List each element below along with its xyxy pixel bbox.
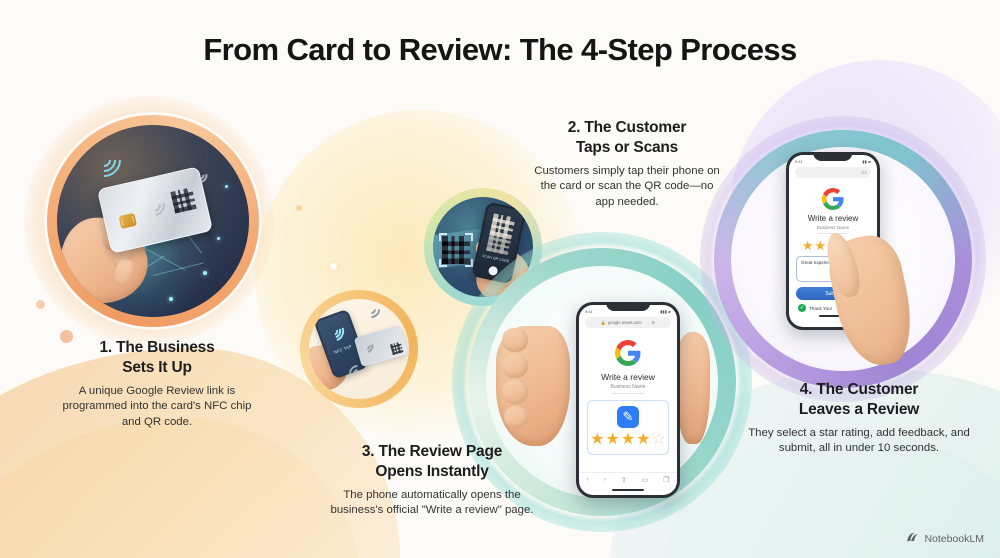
step-1-heading-line2: Sets It Up — [122, 359, 191, 376]
decorative-dot — [36, 300, 45, 309]
step-3-block: 3. The Review Page Opens Instantly The p… — [322, 442, 542, 519]
google-logo-icon — [579, 340, 677, 366]
step-3-body: The phone automatically opens the busine… — [322, 488, 542, 519]
confirmation-text: Thank You! — [809, 306, 832, 311]
step-4-body: They select a star rating, add feedback,… — [746, 426, 972, 457]
qr-code-icon — [390, 341, 404, 355]
star-icon[interactable]: ☆ — [652, 432, 666, 448]
scan-corner — [439, 259, 447, 267]
finger — [502, 380, 528, 404]
browser-nav-bar: ‹ › ⇧ ▭ ❐ — [579, 472, 677, 486]
step-2-heading-line2: Taps or Scans — [576, 139, 678, 156]
review-page-title: Write a review — [579, 372, 677, 382]
check-circle-icon: ✓ — [798, 304, 806, 312]
thumb — [676, 332, 710, 444]
network-node — [225, 185, 228, 188]
network-node — [169, 297, 173, 301]
step1-illustration — [57, 125, 249, 317]
decorative-dot — [296, 205, 302, 211]
step-4-block: 4. The Customer Leaves a Review They sel… — [746, 380, 972, 457]
notebooklm-logo-icon — [906, 531, 920, 546]
scan-corner — [439, 233, 447, 241]
review-page-title: Write a review — [789, 214, 877, 223]
url-text: google.revws.com — [608, 320, 642, 325]
network-node — [217, 237, 220, 240]
finger — [502, 328, 528, 352]
step-4-heading: 4. The Customer Leaves a Review — [746, 380, 972, 420]
star-icon[interactable]: ★ — [605, 432, 619, 448]
forward-icon[interactable]: › — [604, 476, 606, 483]
star-icon[interactable]: ★ — [815, 239, 827, 252]
step-4-heading-line2: Leaves a Review — [799, 401, 919, 418]
business-name: Business Name — [579, 384, 677, 390]
nfc-tap-illustration: NFC TAP — [309, 299, 409, 399]
phone-notch — [606, 302, 650, 311]
status-indicators: ▮▮▮ ▰ — [660, 309, 671, 314]
write-review-card[interactable]: ✎ ★ ★ ★ ★ ☆ — [587, 400, 669, 455]
step-1-heading: 1. The Business Sets It Up — [52, 338, 262, 378]
star-icon[interactable]: ★ — [621, 432, 635, 448]
decorative-dot — [330, 263, 337, 270]
step-1-block: 1. The Business Sets It Up A unique Goog… — [52, 338, 262, 431]
business-name: Business Name — [789, 225, 877, 230]
browser-url-bar[interactable]: 🔒 google.revws.com ⟳ — [585, 317, 671, 328]
step-2-block: 2. The Customer Taps or Scans Customers … — [534, 118, 720, 211]
step-1-body: A unique Google Review link is programme… — [52, 384, 262, 431]
step-3-heading: 3. The Review Page Opens Instantly — [322, 442, 542, 482]
network-node — [97, 305, 100, 308]
network-node — [203, 271, 207, 275]
background-blob-bottom-left-2 — [0, 418, 360, 558]
step-1-heading-line1: 1. The Business — [99, 339, 214, 356]
home-indicator — [612, 489, 643, 491]
qr-code-target — [439, 233, 473, 267]
step-2-body: Customers simply tap their phone on the … — [534, 164, 720, 211]
network-node — [207, 307, 210, 310]
status-time: 9:41 — [795, 159, 803, 164]
reload-icon[interactable]: ⟳ — [652, 320, 656, 325]
step-2-heading-line1: 2. The Customer — [568, 119, 686, 136]
step-3-heading-line1: 3. The Review Page — [362, 443, 502, 460]
share-icon[interactable]: ⇧ — [621, 476, 627, 484]
back-icon[interactable]: ‹ — [586, 476, 588, 483]
notebooklm-label: NotebookLM — [924, 533, 984, 545]
page-title: From Card to Review: The 4-Step Process — [0, 32, 1000, 68]
phone-notch — [813, 152, 852, 161]
nfc-review-card-small — [354, 325, 408, 367]
step-2-heading: 2. The Customer Taps or Scans — [534, 118, 720, 158]
scan-corner — [465, 259, 473, 267]
lock-icon: 🔒 — [601, 320, 606, 326]
status-indicators: ▮▮ ▰ — [862, 159, 871, 164]
star-rating[interactable]: ★ ★ ★ ★ ☆ — [588, 432, 668, 448]
infographic-canvas: From Card to Review: The 4-Step Process — [0, 0, 1000, 558]
qr-code-icon — [170, 187, 196, 213]
phone-screen-review: 9:41 ▮▮▮ ▰ 🔒 google.revws.com ⟳ Write a … — [579, 305, 677, 495]
step-3-heading-line2: Opens Instantly — [375, 463, 488, 480]
notebooklm-watermark: NotebookLM — [906, 531, 984, 546]
finger — [502, 354, 528, 378]
status-time: 9:41 — [585, 309, 593, 314]
emv-chip-icon — [118, 213, 137, 229]
star-icon[interactable]: ★ — [636, 432, 650, 448]
finger — [504, 406, 528, 428]
step-4-heading-line1: 4. The Customer — [800, 381, 918, 398]
star-icon[interactable]: ★ — [802, 239, 814, 252]
tabs-icon[interactable]: ▭ — [861, 169, 867, 176]
star-icon[interactable]: ★ — [590, 432, 604, 448]
tabs-icon[interactable]: ❐ — [663, 476, 669, 484]
phone-device-review: 9:41 ▮▮▮ ▰ 🔒 google.revws.com ⟳ Write a … — [576, 302, 680, 498]
browser-url-bar[interactable]: ▭ — [795, 167, 871, 178]
bookmarks-icon[interactable]: ▭ — [642, 476, 649, 484]
scan-corner — [465, 233, 473, 241]
google-logo-icon — [789, 188, 877, 210]
pencil-icon: ✎ — [617, 406, 639, 428]
